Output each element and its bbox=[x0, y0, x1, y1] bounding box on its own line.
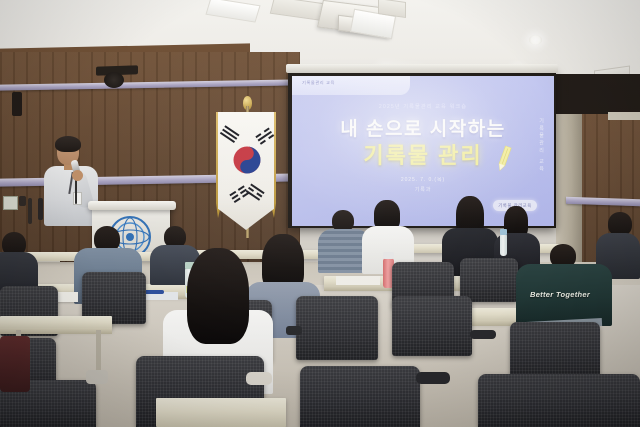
wall-dark-recess-right bbox=[556, 74, 640, 114]
podium-top-surface bbox=[88, 201, 176, 210]
presenter-hand bbox=[72, 170, 83, 181]
slide-organizer-text: 기록과 bbox=[292, 186, 554, 193]
slide-corner-tab: 기록물관리 교육 bbox=[292, 76, 410, 95]
chair-arm-b bbox=[286, 326, 302, 335]
slide-title-line-2: 기록물 관리 bbox=[292, 138, 554, 170]
attendee-torso: Better Together bbox=[516, 264, 612, 326]
ceiling-downlight-2 bbox=[529, 35, 542, 45]
shoe bbox=[86, 370, 108, 384]
chair-row-2-b[interactable] bbox=[296, 296, 378, 360]
attendee-hair bbox=[187, 248, 249, 344]
projected-slide: 기록물관리 교육 2025년 기록물관리 교육 워크숍 내 손으로 시작하는 기… bbox=[292, 76, 554, 226]
shoe-2 bbox=[246, 372, 272, 385]
chair-arm-front-b bbox=[416, 372, 450, 384]
desk-leg-2 bbox=[96, 330, 101, 372]
chair-row-2-d[interactable] bbox=[510, 322, 600, 380]
chair-row-3-d[interactable] bbox=[460, 258, 518, 302]
chair-mesh bbox=[478, 374, 640, 427]
slide-title-line-1: 내 손으로 시작하는 bbox=[292, 114, 554, 141]
wall-speaker-left bbox=[12, 92, 22, 116]
attendee-leg bbox=[0, 336, 30, 392]
chair-mesh bbox=[300, 366, 420, 427]
slide-side-text: 기록물관리 교육 bbox=[538, 118, 545, 174]
seminar-room-photo: 기록물관리 교육 2025년 기록물관리 교육 워크숍 내 손으로 시작하는 기… bbox=[0, 0, 640, 427]
wall-control-panel[interactable] bbox=[3, 196, 18, 210]
notebook-3 bbox=[336, 276, 380, 285]
chair-arm-c bbox=[470, 330, 496, 339]
chair-front-c[interactable] bbox=[478, 374, 640, 427]
chair-mesh bbox=[296, 296, 378, 360]
taeguk-symbol bbox=[232, 145, 262, 175]
chair-mesh bbox=[460, 258, 518, 302]
screen-roller-housing bbox=[286, 64, 558, 73]
ceiling-speaker bbox=[104, 72, 124, 88]
presenter-hair bbox=[55, 136, 81, 152]
wall-cable bbox=[28, 198, 32, 224]
tumbler-cap bbox=[383, 252, 394, 259]
chair-mesh bbox=[392, 296, 472, 356]
bottle-cap bbox=[500, 229, 507, 235]
chair-row-2-c[interactable] bbox=[392, 296, 472, 356]
wall-cable-2 bbox=[38, 198, 43, 220]
chair-mesh bbox=[510, 322, 600, 380]
chair-front-b[interactable] bbox=[300, 366, 420, 427]
desk-front-row bbox=[156, 398, 286, 427]
wall-shelf-right bbox=[608, 112, 640, 120]
wall-outlet[interactable] bbox=[19, 196, 26, 206]
slide-kicker-text: 2025년 기록물관리 교육 워크숍 bbox=[292, 103, 554, 110]
slide-eyebrow-text: 기록물관리 교육 bbox=[302, 80, 400, 86]
slide-date-text: 2025. 7. 0.(목) bbox=[292, 176, 554, 183]
water-bottle-right bbox=[500, 234, 507, 256]
shirt-text: Better Together bbox=[530, 290, 590, 299]
